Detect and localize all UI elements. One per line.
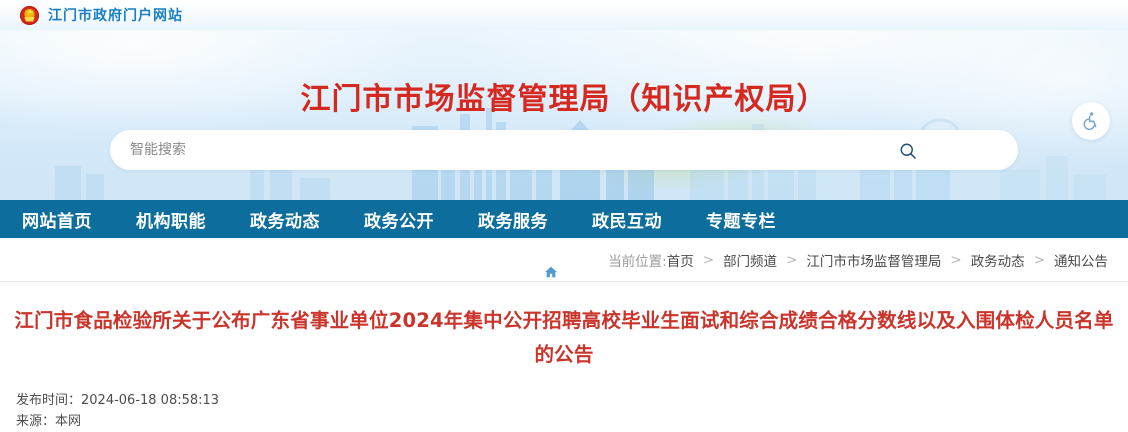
breadcrumb-separator: > xyxy=(950,252,961,268)
breadcrumb-separator: > xyxy=(703,252,714,268)
accessibility-button[interactable] xyxy=(1072,102,1110,140)
breadcrumb-separator: > xyxy=(1034,252,1045,268)
page-title: 江门市市场监督管理局（知识产权局） xyxy=(0,74,1128,118)
breadcrumb-bar: 当前位置: 首页 > 部门频道 > 江门市市场监督管理局 > 政务动态 > 通知… xyxy=(0,238,1128,282)
breadcrumb-item-bureau[interactable]: 江门市市场监督管理局 xyxy=(806,250,941,270)
wheelchair-accessibility-icon xyxy=(1081,111,1101,131)
breadcrumb-item-home[interactable]: 首页 xyxy=(667,250,694,270)
article-source: 来源：本网 xyxy=(16,411,1114,432)
search-icon xyxy=(898,141,918,161)
nav-item-services[interactable]: 政务服务 xyxy=(478,207,548,232)
nav-item-functions[interactable]: 机构职能 xyxy=(136,207,206,232)
government-portal-title[interactable]: 江门市政府门户网站 xyxy=(48,5,183,25)
home-icon[interactable] xyxy=(544,265,558,279)
government-portal-bar: 江门市政府门户网站 xyxy=(0,0,1128,30)
national-emblem-icon xyxy=(20,6,39,25)
breadcrumb: 当前位置: 首页 > 部门频道 > 江门市市场监督管理局 > 政务动态 > 通知… xyxy=(608,250,1108,270)
article-title: 江门市食品检验所关于公布广东省事业单位2024年集中公开招聘高校毕业生面试和综合… xyxy=(14,304,1114,372)
nav-item-topics[interactable]: 专题专栏 xyxy=(706,207,776,232)
nav-item-home[interactable]: 网站首页 xyxy=(22,207,92,232)
breadcrumb-label: 当前位置: xyxy=(608,250,667,270)
breadcrumb-item-department[interactable]: 部门频道 xyxy=(723,250,777,270)
breadcrumb-item-news[interactable]: 政务动态 xyxy=(971,250,1025,270)
search-input[interactable] xyxy=(128,136,772,164)
breadcrumb-item-notice[interactable]: 通知公告 xyxy=(1054,250,1108,270)
search-button[interactable] xyxy=(895,138,921,164)
main-navigation: 网站首页 机构职能 政务动态 政务公开 政务服务 政民互动 专题专栏 xyxy=(0,200,1128,238)
article-publish-time: 发布时间：2024-06-18 08:58:13 xyxy=(16,390,1114,411)
nav-item-interaction[interactable]: 政民互动 xyxy=(592,207,662,232)
nav-item-news[interactable]: 政务动态 xyxy=(250,207,320,232)
search-box xyxy=(110,130,1018,170)
article-meta: 发布时间：2024-06-18 08:58:13 来源：本网 xyxy=(14,390,1114,432)
site-banner: 江门市市场监督管理局（知识产权局） xyxy=(0,30,1128,200)
nav-item-disclosure[interactable]: 政务公开 xyxy=(364,207,434,232)
article-container: 江门市食品检验所关于公布广东省事业单位2024年集中公开招聘高校毕业生面试和综合… xyxy=(0,282,1128,432)
breadcrumb-separator: > xyxy=(786,252,797,268)
